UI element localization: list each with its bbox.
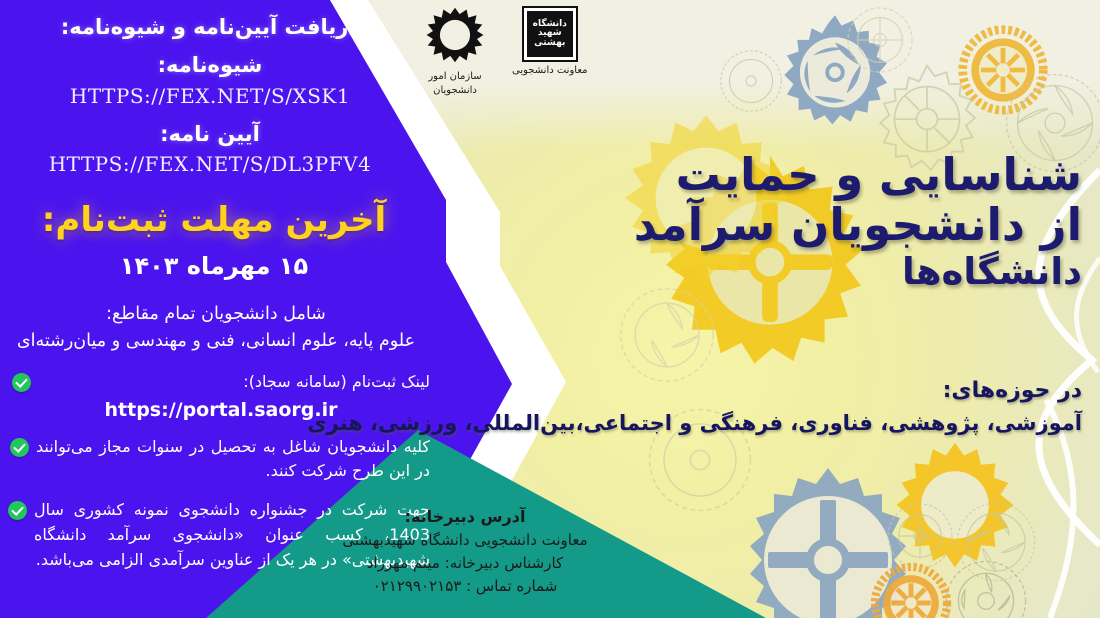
swoosh-lines [870,0,1100,618]
guideline-url[interactable]: HTTPS://FEX.NET/S/XSK1 [26,84,394,109]
secretariat-heading: آدرس دبیرخانه: [300,505,630,529]
gear-icon-outline-small-left [715,45,787,117]
check-icon [12,373,31,392]
check-icon [10,438,29,457]
deadline-heading: آخرین مهلت ثبت‌نام: [16,199,412,242]
poster-title: شناسایی و حمایت از دانشجویان سرآمد دانشگ… [562,150,1082,292]
downloads-heading: دریافت آیین‌نامه و شیوه‌نامه: [26,14,394,40]
university-logo: دانشگاه شهید بهشتی معاونت دانشجویی [512,6,588,76]
regulation-url[interactable]: HTTPS://FEX.NET/S/DL3PFV4 [26,152,394,177]
title-line-1: شناسایی و حمایت [562,150,1082,200]
eligibility-line-2: علوم پایه، علوم انسانی، فنی و مهندسی و م… [14,328,418,354]
registration-portal-url[interactable]: https://portal.saorg.ir [12,399,430,421]
regulation-label: آیین نامه: [26,121,394,147]
secretariat-line-2: کارشناس دبیرخانه: میثم مهرزاد [300,552,630,575]
university-logo-caption: معاونت دانشجویی [512,65,588,76]
title-line-2: از دانشجویان سرآمد [562,200,1082,250]
poster-root: دانشگاه شهید بهشتی معاونت دانشجویی سازما… [0,0,1100,618]
secretariat-block: آدرس دبیرخانه: معاونت دانشجویی دانشگاه ش… [300,505,630,598]
university-logo-mark: دانشگاه شهید بهشتی [522,6,578,62]
secretariat-line-1: معاونت دانشجویی دانشگاه شهیدبهشتی [300,529,630,552]
guideline-label: شیوه‌نامه: [26,52,394,78]
deadline-date: ۱۵ مهرماه ۱۴۰۳ [16,251,412,281]
eligibility-line-1: شامل دانشجویان تمام مقاطع: [14,301,418,327]
gear-icon-outline-left-faint [612,280,722,390]
secretariat-phone: شماره تماس : ۰۲۱۲۹۹۰۲۱۵۳ [300,575,630,598]
bullet-registration-text: لینک ثبت‌نام (سامانه سجاد): [38,370,430,395]
title-line-3: دانشگاه‌ها [562,251,1082,292]
purple-panel-content: دریافت آیین‌نامه و شیوه‌نامه: شیوه‌نامه:… [0,0,452,573]
university-logo-calligraphy: دانشگاه شهید بهشتی [527,11,573,57]
check-icon [8,501,27,520]
bullet-working-students: کلیه دانشجویان شاغل به تحصیل در سنوات مج… [10,435,430,485]
bullet-registration: لینک ثبت‌نام (سامانه سجاد): [12,370,430,395]
bullet-working-students-text: کلیه دانشجویان شاغل به تحصیل در سنوات مج… [36,435,430,485]
